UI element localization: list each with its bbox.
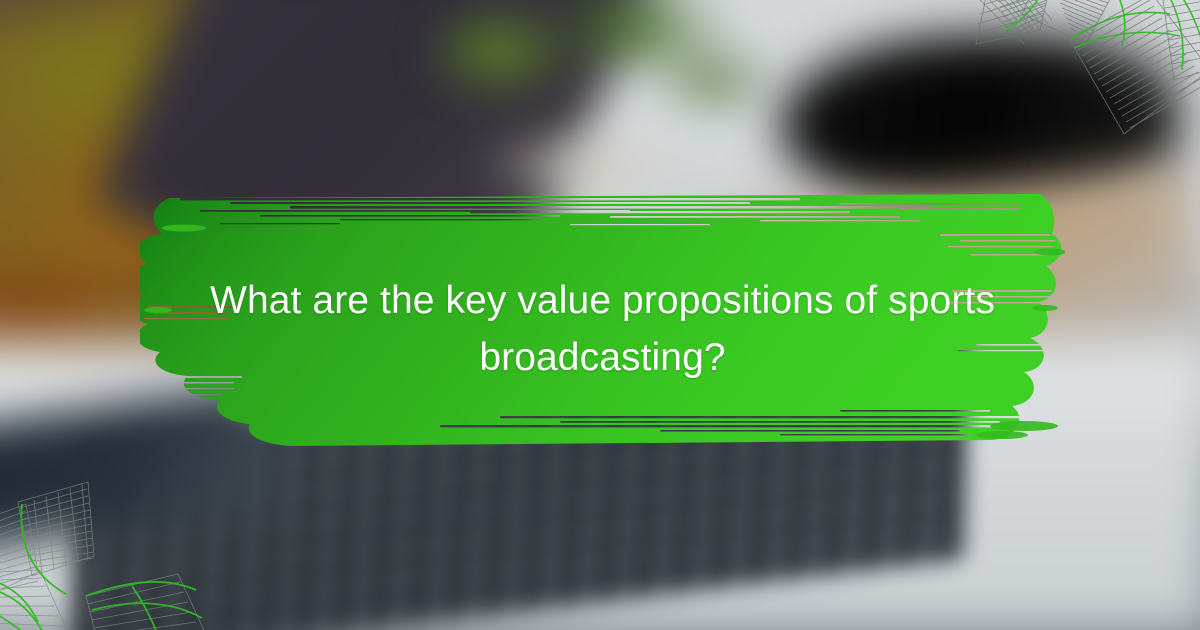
brush-stroke-banner: What are the key value propositions of s…: [140, 194, 1065, 446]
headline-line-2: broadcasting?: [479, 336, 725, 379]
question-card-canvas: What are the key value propositions of s…: [0, 0, 1200, 630]
page-title: What are the key value propositions of s…: [200, 272, 1005, 386]
headline-line-1: What are the key value propositions of s…: [210, 279, 995, 322]
